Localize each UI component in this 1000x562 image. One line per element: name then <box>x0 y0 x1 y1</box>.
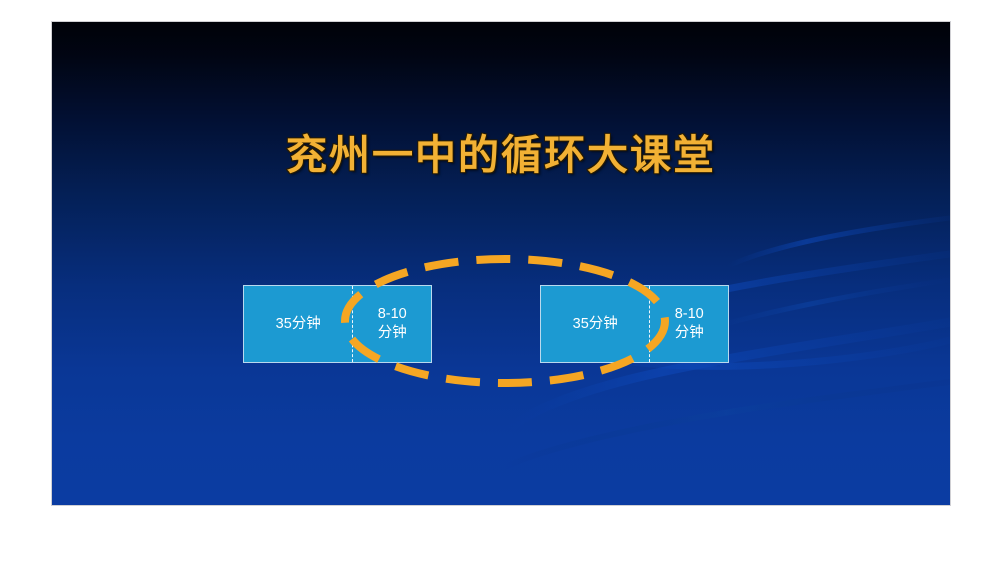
time-block-2-left-label: 35分钟 <box>573 315 618 334</box>
time-block-2-right-label-line2: 分钟 <box>675 324 704 343</box>
time-block-2-left-segment: 35分钟 <box>541 286 649 362</box>
time-block-2[interactable]: 35分钟 8-10 分钟 <box>540 285 729 363</box>
time-block-1-right-label-line2: 分钟 <box>378 324 407 343</box>
time-block-1-right-label-line1: 8-10 <box>378 305 407 324</box>
time-block-1[interactable]: 35分钟 8-10 分钟 <box>243 285 432 363</box>
time-block-2-right-label-line1: 8-10 <box>675 305 704 324</box>
time-block-1-left-label: 35分钟 <box>276 315 321 334</box>
time-block-1-left-segment: 35分钟 <box>244 286 352 362</box>
time-block-1-right-segment: 8-10 分钟 <box>352 286 431 362</box>
cycle-diagram: 35分钟 8-10 分钟 35分钟 8-10 分钟 <box>52 22 950 505</box>
time-block-2-right-segment: 8-10 分钟 <box>649 286 728 362</box>
presentation-slide: 兖州一中的循环大课堂 35分钟 8-10 分钟 35分钟 8-10 <box>52 22 950 505</box>
slide-canvas: 兖州一中的循环大课堂 35分钟 8-10 分钟 35分钟 8-10 <box>0 0 1000 562</box>
